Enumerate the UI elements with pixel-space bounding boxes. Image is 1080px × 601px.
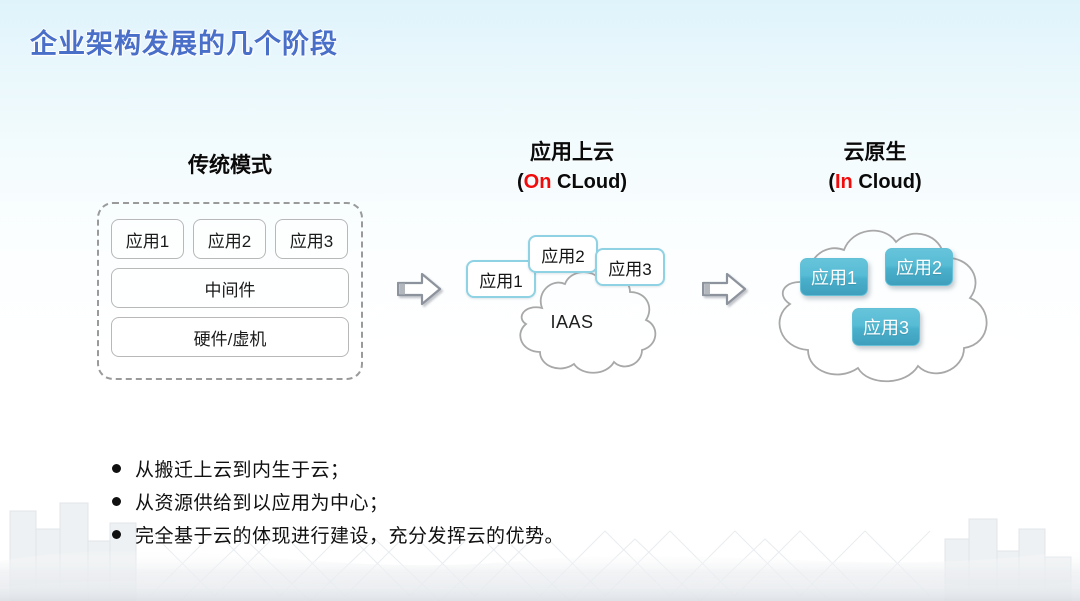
on-cloud-accent-word: On: [524, 171, 552, 193]
panel-cloud-native-heading-cn: 云原生: [775, 140, 975, 166]
in-cloud-paren-open: (: [828, 171, 835, 193]
on-cloud-paren-open: (: [517, 171, 524, 193]
iaas-cloud-label: IAAS: [532, 312, 612, 333]
in-cloud-rest: Cloud): [853, 171, 922, 193]
traditional-app-1[interactable]: 应用1: [111, 219, 184, 259]
cloud-native-app-1[interactable]: 应用1: [800, 258, 868, 296]
bullet-list: 从搬迁上云到内生于云； 从资源供给到以应用为中心； 完全基于云的体现进行建设，充…: [112, 455, 732, 554]
on-cloud-app-2[interactable]: 应用2: [528, 235, 598, 273]
traditional-app-row: 应用1 应用2 应用3: [111, 219, 349, 259]
list-item: 从搬迁上云到内生于云；: [112, 455, 732, 488]
bullet-dot-icon: [112, 497, 121, 506]
panel-traditional-heading: 传统模式: [130, 153, 330, 179]
list-item: 从资源供给到以应用为中心；: [112, 488, 732, 521]
panel-cloud-native-heading-en: (In Cloud): [775, 169, 975, 195]
cloud-native-cloud-shape: [758, 218, 1006, 386]
bullet-dot-icon: [112, 530, 121, 539]
traditional-middleware[interactable]: 中间件: [111, 268, 349, 308]
page-title: 企业架构发展的几个阶段: [30, 22, 338, 61]
traditional-app-2[interactable]: 应用2: [193, 219, 266, 259]
cloud-native-app-3[interactable]: 应用3: [852, 308, 920, 346]
arrow-oncloud-to-native: [702, 272, 746, 306]
bullet-text-2: 从资源供给到以应用为中心；: [135, 488, 389, 515]
on-cloud-app-1[interactable]: 应用1: [466, 260, 536, 298]
panel-on-cloud-heading-cn: 应用上云: [472, 140, 672, 166]
bullet-text-3: 完全基于云的体现进行建设，充分发挥云的优势。: [135, 521, 564, 548]
traditional-hardware[interactable]: 硬件/虚机: [111, 317, 349, 357]
list-item: 完全基于云的体现进行建设，充分发挥云的优势。: [112, 521, 732, 554]
slide-canvas: 企业架构发展的几个阶段 传统模式 应用1 应用2 应用3 中间件 硬件/虚机 应…: [0, 0, 1080, 601]
on-cloud-rest: CLoud): [551, 171, 627, 193]
traditional-stack: 应用1 应用2 应用3 中间件 硬件/虚机: [111, 219, 349, 357]
on-cloud-app-3[interactable]: 应用3: [595, 248, 665, 286]
bullet-dot-icon: [112, 464, 121, 473]
bullet-text-1: 从搬迁上云到内生于云；: [135, 455, 350, 482]
in-cloud-accent-word: In: [835, 171, 853, 193]
panel-on-cloud-heading-en: (On CLoud): [472, 169, 672, 195]
traditional-app-3[interactable]: 应用3: [275, 219, 348, 259]
cloud-native-app-2[interactable]: 应用2: [885, 248, 953, 286]
arrow-trad-to-oncloud: [397, 272, 441, 306]
